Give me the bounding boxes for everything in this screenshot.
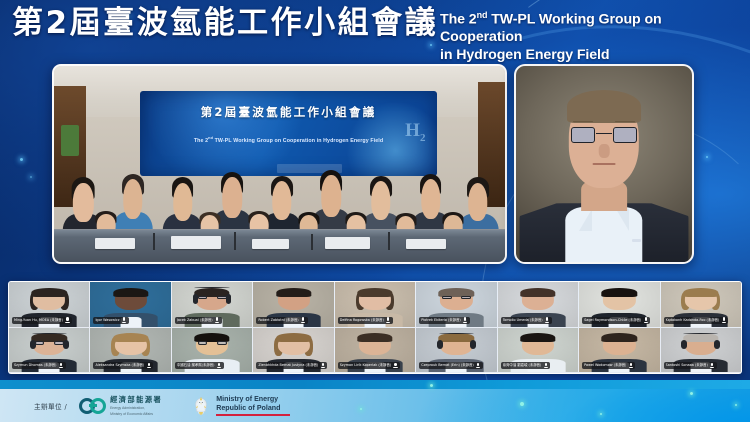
host-organizer-label: 主辦單位 / <box>34 401 67 411</box>
participant-name-label: Kądakonh Kadonda-Foo (未靜音) <box>664 317 729 324</box>
subtitle-ordinal: nd <box>477 10 488 20</box>
microphone-icon <box>628 363 633 369</box>
speaker-nose <box>599 144 610 158</box>
participant-name-text: Sagel Raymondson-Chlóe (未靜音) <box>584 317 641 324</box>
ea-name-en-line1: Energy Administration, <box>110 406 162 410</box>
microphone-icon <box>215 317 220 323</box>
microphone-icon <box>301 317 306 323</box>
subtitle-line-2: in Hydrogen Energy Field <box>440 47 609 63</box>
participant-tile[interactable]: Ming-Yuan Hu, MOEA (未靜音) <box>9 282 89 327</box>
ministry-of-energy-poland-text: Ministry of Energy Republic of Poland <box>216 395 290 416</box>
participant-tile[interactable]: Sagel Raymondson-Chlóe (未靜音) <box>579 282 659 327</box>
participant-name-label: Piotrek Ekiterio (未靜音) <box>419 317 470 324</box>
footer-sparkle <box>690 392 693 395</box>
participant-name-text: Zienbhkhda Bernat Justyna (未靜音) <box>258 362 318 369</box>
headset-earcup-right <box>226 294 232 304</box>
photo-plant <box>61 125 79 156</box>
participant-name-text: Kądakonh Kadonda-Foo (未靜音) <box>666 317 720 324</box>
banner-title-zh: 第2屆臺波氫能工作小組會議 <box>158 106 420 119</box>
participant-name-text: Delfina Rogowska (未靜音) <box>340 317 384 324</box>
participant-tile[interactable]: Igor Wasowicz <box>90 282 170 327</box>
interlocked-rings-icon <box>79 397 106 415</box>
microphone-icon <box>393 363 398 369</box>
microphone-icon <box>386 317 391 323</box>
participant-name-text: 臺灣中油 劉嘉峻 (未靜音) <box>503 362 542 369</box>
photo-conference-table <box>54 229 505 262</box>
header: 第2屆臺波氫能工作小組會議 The 2nd TW-PL Working Grou… <box>0 0 750 56</box>
participant-name-label: 中國石油 謝孝熙(未靜音) <box>175 362 224 369</box>
active-speaker-tile[interactable] <box>514 64 694 264</box>
participant-tile[interactable]: 臺灣中油 劉嘉峻 (未靜音) <box>498 328 578 373</box>
participant-name-text: Igor Wasowicz <box>95 317 119 324</box>
participant-name-text: Jacek Zabual (未靜音) <box>177 317 213 324</box>
participant-name-label: Sagel Raymondson-Chlóe (未靜音) <box>582 317 650 324</box>
participant-tile[interactable]: Santoshi Sonaaa (未靜音) <box>661 328 741 373</box>
footer-arc-3 <box>420 380 750 422</box>
headset-earcup-right <box>714 340 720 350</box>
participant-tile[interactable]: Kądakonh Kadonda-Foo (未靜音) <box>661 282 741 327</box>
participant-hair <box>357 288 392 297</box>
headset-headband <box>683 333 718 335</box>
microphone-icon <box>146 363 151 369</box>
footer-sparkle <box>520 402 524 406</box>
participant-hair <box>602 333 637 342</box>
headset-earcup-left <box>193 294 199 304</box>
microphone-icon <box>320 363 325 369</box>
participant-name-label: Robert Zabłotni (未靜音) <box>256 317 307 324</box>
participant-name-text: Ming-Yuan Hu, MOEA (未靜音) <box>14 317 63 324</box>
participant-tile[interactable]: Aleksandra Szymska (未靜音) <box>90 328 170 373</box>
participant-name-label: Zienbhkhda Bernat Justyna (未靜音) <box>256 362 327 369</box>
participant-name-label: Delfina Rogowska (未靜音) <box>338 317 393 324</box>
participant-name-label: Aleksandra Szymska (未靜音) <box>93 362 153 369</box>
participant-tile[interactable]: Czeprouk Bernat (Erin) (未靜音) <box>416 328 496 373</box>
presentation-stage: 第2屆臺波氫能工作小組會議 The 2nd TW-PL Working Grou… <box>0 0 750 422</box>
participant-name-text: Tomolio Umeda (未靜音) <box>503 317 543 324</box>
eyeglasses-right-lens <box>461 296 471 300</box>
microphone-icon <box>122 317 127 323</box>
participant-hair <box>683 288 718 297</box>
participant-name-text: 中國石油 謝孝熙(未靜音) <box>177 362 215 369</box>
energy-administration-text: 經濟部能源署 Energy Administration, Ministry o… <box>110 395 162 416</box>
poland-line-2: Republic of Poland <box>216 404 290 413</box>
subtitle-line-1-pre: The 2 <box>440 12 477 28</box>
participant-name-text: Piotrek Ekiterio (未靜音) <box>421 317 461 324</box>
participant-name-text: Szymun Dhomas (未靜音) <box>14 362 57 369</box>
speaker-collar-left <box>579 209 592 231</box>
participant-tile[interactable]: Zienbhkhda Bernat Justyna (未靜音) <box>253 328 333 373</box>
participant-name-text: Robert Zabłotni (未靜音) <box>258 317 298 324</box>
participant-hair <box>276 288 311 297</box>
speaker-lapel-pin <box>632 239 641 242</box>
participant-hair <box>113 333 148 342</box>
footer-content: 主辦單位 / 經濟部能源署 Energy Administration, Min… <box>34 389 290 422</box>
footer-sparkle <box>735 404 737 406</box>
page-subtitle: The 2nd TW-PL Working Group on Cooperati… <box>440 7 746 64</box>
microphone-icon <box>543 363 548 369</box>
participant-hair <box>520 288 555 297</box>
participant-hair <box>276 333 311 342</box>
participant-name-label: Santoshi Sonaaa (未靜音) <box>664 362 717 369</box>
energy-administration-logo: 經濟部能源署 Energy Administration, Ministry o… <box>79 395 162 416</box>
eyeglasses-left-lens <box>442 296 452 300</box>
eyeglasses-left-lens <box>198 341 208 345</box>
microphone-icon <box>463 317 468 323</box>
ea-name-en-line2: Ministry of Economic Affairs <box>110 412 162 416</box>
participant-hair <box>113 288 148 297</box>
participant-grid[interactable]: Ming-Yuan Hu, MOEA (未靜音)Igor WasowiczJac… <box>8 281 742 374</box>
participant-name-label: Jacek Zabual (未靜音) <box>175 317 222 324</box>
participant-name-label: Szymon Lirík Koperlak (未靜音) <box>338 362 400 369</box>
participant-name-text: Aleksandra Szymska (未靜音) <box>95 362 144 369</box>
participant-name-text: Pawel Wodomow (未靜音) <box>584 362 626 369</box>
microphone-icon <box>545 317 550 323</box>
hydrogen-h2-graphic: H2 <box>405 120 425 144</box>
participant-tile[interactable]: Tomolio Umeda (未靜音) <box>498 282 578 327</box>
participant-name-label: Igor Wasowicz <box>93 317 128 324</box>
ea-name-zh: 經濟部能源署 <box>110 395 162 405</box>
speaker-mouth <box>593 163 616 165</box>
microphone-icon <box>59 363 64 369</box>
participant-hair <box>32 288 67 297</box>
participant-name-text: Santoshi Sonaaa (未靜音) <box>666 362 708 369</box>
participant-name-text: Szymon Lirík Koperlak (未靜音) <box>340 362 391 369</box>
h2-subscript: 2 <box>420 132 426 144</box>
sparkle-dot <box>706 156 708 158</box>
microphone-icon <box>217 363 222 369</box>
footer-sparkle <box>600 413 602 415</box>
participant-tile[interactable]: Szymun Dhomas (未靜音) <box>9 328 89 373</box>
speaker-hair <box>567 90 641 123</box>
participant-name-label: Ming-Yuan Hu, MOEA (未靜音) <box>12 317 72 324</box>
group-photo-tile[interactable]: 第2屆臺波氫能工作小組會議 The 2nd TW-PL Working Grou… <box>52 64 507 264</box>
ministry-of-energy-poland-logo: Ministry of Energy Republic of Poland <box>190 395 290 417</box>
participant-tile[interactable]: Piotrek Ekiterio (未靜音) <box>416 282 496 327</box>
headset-headband <box>194 287 229 289</box>
eyeglasses-bridge <box>596 133 612 134</box>
eyeglasses-left-lens <box>571 127 596 144</box>
headset-headband <box>32 333 67 335</box>
microphone-icon <box>643 317 648 323</box>
participant-name-label: Czeprouk Bernat (Erin) (未靜音) <box>419 362 483 369</box>
microphone-icon <box>710 363 715 369</box>
banner-en-pre: The 2 <box>194 138 208 144</box>
participant-hair <box>520 333 555 342</box>
headset-earcup-left <box>681 340 687 350</box>
participant-name-label: Pawel Wodomow (未靜音) <box>582 362 635 369</box>
participant-tile[interactable]: Pawel Wodomow (未靜音) <box>579 328 659 373</box>
microphone-icon <box>476 363 481 369</box>
page-title: 第2屆臺波氫能工作小組會議 <box>12 6 438 40</box>
speaker-collar-right <box>616 209 629 231</box>
participant-name-label: Tomolio Umeda (未靜音) <box>501 317 552 324</box>
eyeglasses-right-lens <box>217 341 227 345</box>
footer-sparkle <box>430 384 433 387</box>
microphone-icon <box>721 317 726 323</box>
participant-tile[interactable]: Jacek Zabual (未靜音) <box>172 282 252 327</box>
participant-name-label: 臺灣中油 劉嘉峻 (未靜音) <box>501 362 551 369</box>
speaker-shirt <box>565 207 642 262</box>
microphone-icon <box>65 317 70 323</box>
headset-earcup-right <box>470 340 476 350</box>
headset-earcup-left <box>30 340 36 350</box>
headset-earcup-right <box>63 340 69 350</box>
eyeglasses-right-lens <box>613 127 638 144</box>
poland-eagle-crest-icon <box>190 395 212 417</box>
headset-headband <box>439 333 474 335</box>
participant-hair <box>357 333 392 342</box>
footer: 主辦單位 / 經濟部能源署 Energy Administration, Min… <box>0 380 750 422</box>
banner-title-en: The 2nd TW-PL Working Group on Cooperati… <box>149 135 429 145</box>
eyeglasses-left-lens <box>35 341 45 345</box>
participant-tile[interactable]: Szymon Lirík Koperlak (未靜音) <box>335 328 415 373</box>
sparkle-dot <box>20 158 23 161</box>
poland-line-1: Ministry of Energy <box>216 395 290 404</box>
participant-hair <box>602 288 637 297</box>
participant-name-text: Czeprouk Bernat (Erin) (未靜音) <box>421 362 474 369</box>
eyeglasses-left-lens <box>198 296 208 300</box>
poland-red-rule <box>216 414 290 416</box>
h2-letter: H <box>405 120 420 141</box>
headset-earcup-left <box>437 340 443 350</box>
participant-name-label: Szymun Dhomas (未靜音) <box>12 362 66 369</box>
participant-tile[interactable]: 中國石油 謝孝熙(未靜音) <box>172 328 252 373</box>
footer-sparkle <box>360 408 362 410</box>
banner-en-post: TW-PL Working Group on Cooperation in Hy… <box>213 138 383 144</box>
sparkle-dot <box>30 176 32 178</box>
participant-tile[interactable]: Delfina Rogowska (未靜音) <box>335 282 415 327</box>
participant-tile[interactable]: Robert Zabłotni (未靜音) <box>253 282 333 327</box>
